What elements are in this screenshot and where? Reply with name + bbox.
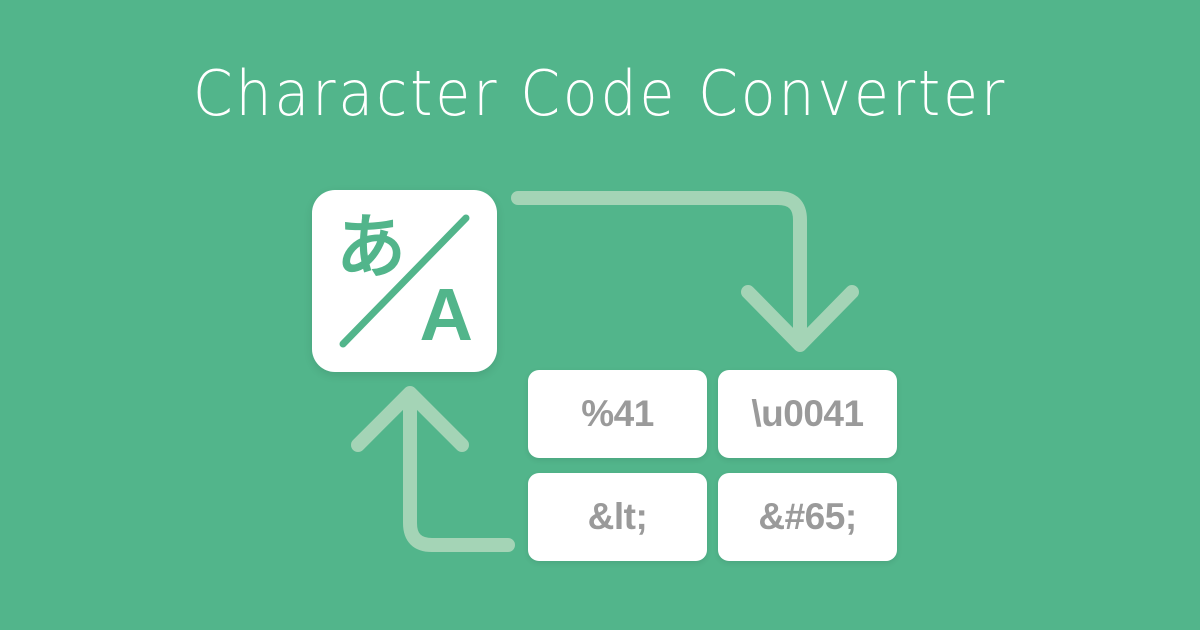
code-box-label: &lt;: [588, 496, 648, 538]
promo-banner: Character Code Converter あ A %41 \u0041 …: [0, 0, 1200, 630]
translate-icon: あ A: [312, 190, 497, 372]
arrow-encode-icon: [518, 198, 852, 345]
code-box-html-numeric-entity: &#65;: [718, 473, 897, 561]
code-box-label: &#65;: [758, 496, 856, 538]
code-box-html-named-entity: &lt;: [528, 473, 707, 561]
code-box-percent-encoding: %41: [528, 370, 707, 458]
arrow-decode-icon: [358, 393, 508, 545]
code-box-label: %41: [581, 393, 654, 435]
code-box-label: \u0041: [751, 393, 863, 435]
latin-a-glyph: A: [420, 278, 473, 352]
code-box-unicode-escape: \u0041: [718, 370, 897, 458]
code-format-grid: %41 \u0041 &lt; &#65;: [528, 370, 897, 560]
